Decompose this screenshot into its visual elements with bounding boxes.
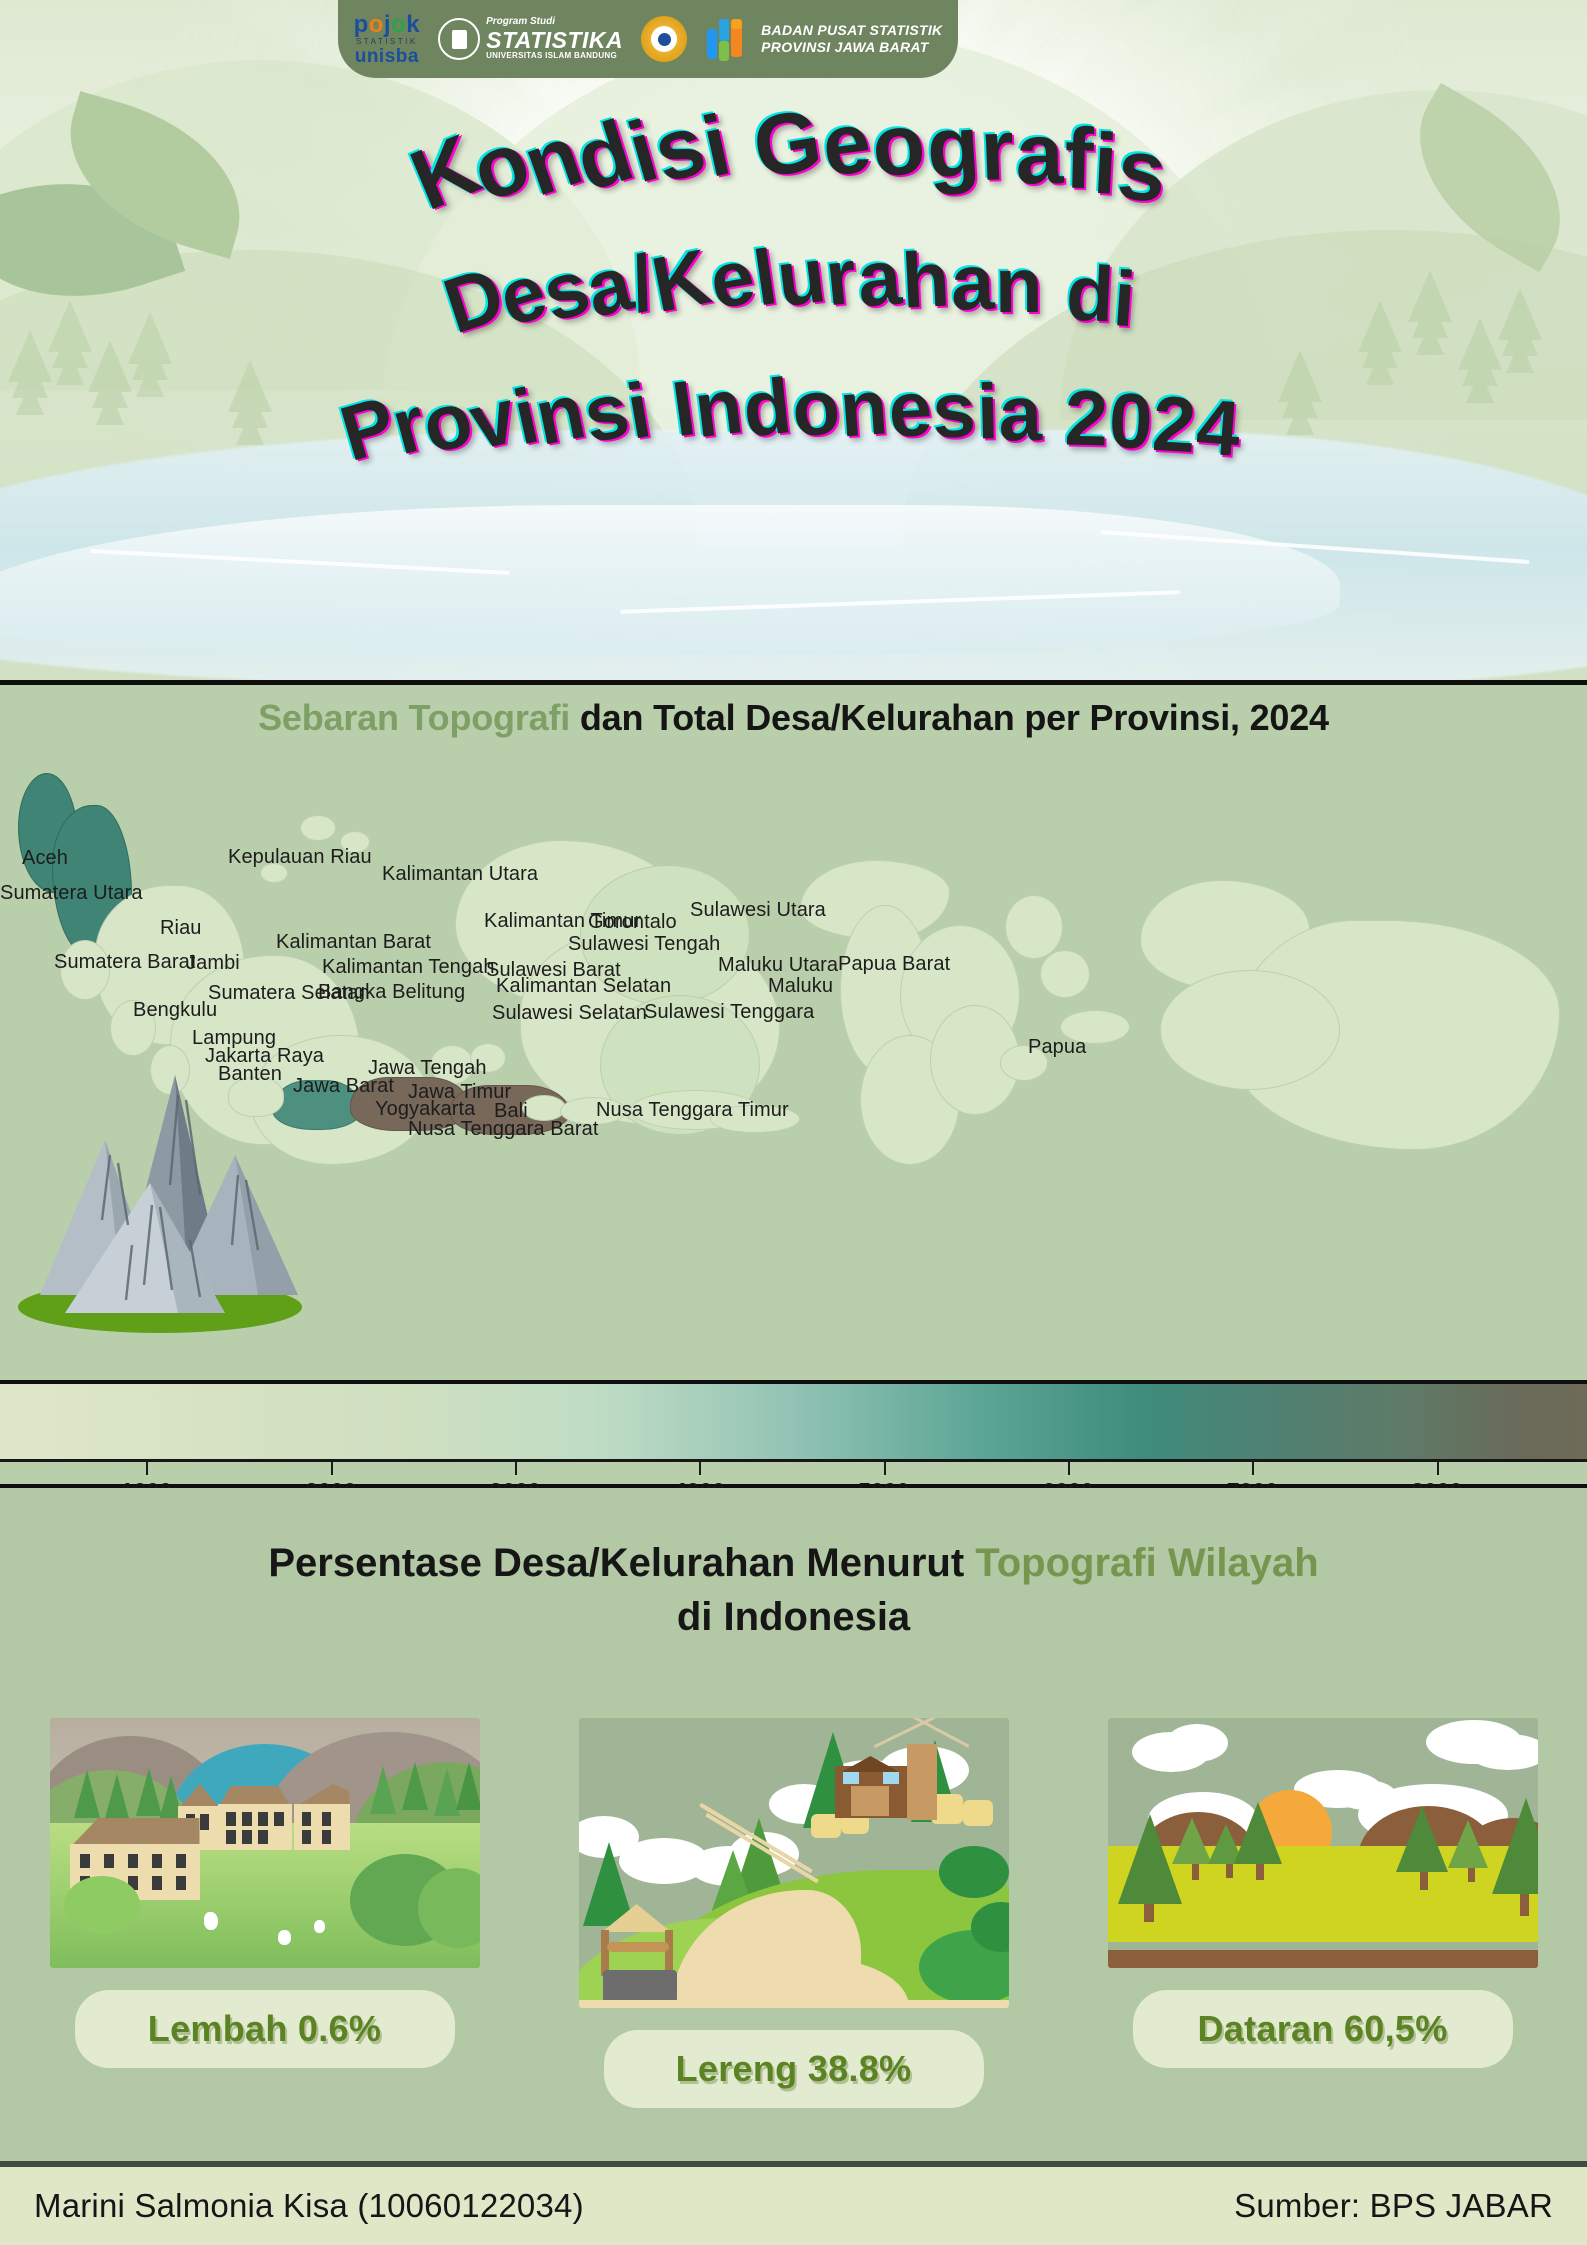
footer: Marini Salmonia Kisa (10060122034) Sumbe… [0, 2161, 1587, 2245]
map-label-bengkulu: Bengkulu [133, 999, 217, 1022]
colorbar-tick [884, 1462, 886, 1475]
map-label-riau: Riau [160, 917, 202, 940]
map-label-papua-barat: Papua Barat [838, 953, 950, 976]
card-lereng: Lereng 38.8% [579, 1718, 1009, 2108]
plain-field-illustration [1108, 1718, 1538, 1968]
map-label-kalimantan-timur: Kalimantan Timur [484, 910, 641, 933]
prodi-line2: STATISTIKA [486, 28, 623, 52]
bottom-title-part1: Persentase Desa/Kelurahan Menurut [268, 1541, 975, 1585]
logo-bps: BADAN PUSAT STATISTIK PROVINSI JAWA BARA… [705, 17, 942, 61]
logo-pojok-statistik-unisba: pojok STATISTIK unisba [354, 13, 421, 66]
colorbar-gradient [0, 1384, 1587, 1462]
colorbar-tick [146, 1462, 148, 1475]
topography-cards: Lembah 0.6% [0, 1718, 1587, 2118]
bps-line1: BADAN PUSAT STATISTIK [761, 22, 942, 40]
pojok-unisba-text: unisba [354, 47, 421, 66]
card-dataran: Dataran 60,5% [1108, 1718, 1538, 2068]
map-label-sumatera-barat: Sumatera Barat [54, 951, 195, 974]
map-label-maluku: Maluku [768, 975, 833, 998]
slope-farm-illustration [579, 1718, 1009, 2008]
map-label-sulawesi-tenggara: Sulawesi Tenggara [644, 1001, 814, 1024]
map-label-sulawesi-utara: Sulawesi Utara [690, 899, 826, 922]
bottom-section-title: Persentase Desa/Kelurahan Menurut Topogr… [0, 1536, 1587, 1644]
badge-lembah: Lembah 0.6% [75, 1990, 455, 2068]
map-title-accent: Sebaran Topografi [258, 697, 570, 738]
map-label-nusa-tenggara-timur: Nusa Tenggara Timur [596, 1099, 789, 1122]
map-label-kalimantan-selatan: Kalimantan Selatan [496, 975, 671, 998]
hero-banner: pojok STATISTIK unisba Program Studi STA… [0, 0, 1587, 680]
logo-program-studi-statistika: Program Studi STATISTIKA UNIVERSITAS ISL… [438, 17, 623, 60]
title-line-3: Provinsi Indonesia 2024 [0, 370, 1587, 461]
bps-line2: PROVINSI JAWA BARAT [761, 39, 942, 57]
map-label-sulawesi-selatan: Sulawesi Selatan [492, 1002, 647, 1025]
colorbar-tick [699, 1462, 701, 1475]
footer-source: Sumber: BPS JABAR [1234, 2187, 1553, 2225]
bottom-title-part2: di Indonesia [677, 1595, 910, 1639]
map-label-nusa-tenggara-barat: Nusa Tenggara Barat [408, 1118, 599, 1141]
map-province-shape [1160, 970, 1340, 1090]
prodi-line3: UNIVERSITAS ISLAM BANDUNG [486, 52, 623, 60]
map-province-shape [300, 815, 336, 841]
map-label-kalimantan-barat: Kalimantan Barat [276, 931, 431, 954]
mountain-illustration [10, 1045, 310, 1335]
map-label-aceh: Aceh [22, 847, 68, 870]
colorbar-tick [1068, 1462, 1070, 1475]
infographic-page: pojok STATISTIK unisba Program Studi STA… [0, 0, 1587, 2245]
map-label-kalimantan-utara: Kalimantan Utara [382, 863, 538, 886]
map-province-shape [1005, 895, 1063, 959]
valley-village-illustration [50, 1718, 480, 1968]
map-label-kalimantan-tengah: Kalimantan Tengah [322, 956, 495, 979]
colorbar-tick [515, 1462, 517, 1475]
bottom-title-accent: Topografi Wilayah [975, 1541, 1318, 1585]
map-label-sumatera-utara: Sumatera Utara [0, 882, 143, 905]
colorbar-tick [1437, 1462, 1439, 1475]
map-label-maluku-utara: Maluku Utara [718, 954, 838, 977]
map-label-jambi: Jambi [186, 952, 240, 975]
map-title-rest: dan Total Desa/Kelurahan per Provinsi, 2… [570, 697, 1329, 738]
colorbar-tick [331, 1462, 333, 1475]
map-colorbar: 10002000300040005000600070008000 [0, 1380, 1587, 1488]
logo-bar: pojok STATISTIK unisba Program Studi STA… [338, 0, 958, 78]
title-line-2: Desa/Kelurahan di [0, 240, 1587, 331]
footer-author: Marini Salmonia Kisa (10060122034) [34, 2187, 584, 2225]
bps-mark-icon [705, 17, 753, 61]
page-title: Kondisi Geografis Desa/Kelurahan di Prov… [0, 95, 1587, 515]
badge-lereng: Lereng 38.8% [604, 2030, 984, 2108]
map-section-title: Sebaran Topografi dan Total Desa/Kelurah… [0, 697, 1587, 739]
river-highlight [0, 505, 1340, 655]
akreditasi-unggul-icon [641, 16, 687, 62]
map-label-papua: Papua [1028, 1036, 1086, 1059]
card-lembah: Lembah 0.6% [50, 1718, 480, 2068]
title-line-1: Kondisi Geografis [0, 105, 1587, 204]
map-province-shape [1040, 950, 1090, 998]
pojok-wordmark: pojok [354, 13, 421, 37]
map-label-kepulauan-riau: Kepulauan Riau [228, 846, 372, 869]
badge-dataran: Dataran 60,5% [1133, 1990, 1513, 2068]
pojok-subtitle: STATISTIK [354, 38, 421, 46]
unisba-seal-icon [438, 18, 480, 60]
topography-percentage-section: Persentase Desa/Kelurahan Menurut Topogr… [0, 1488, 1587, 2161]
map-label-sumatera-selatan: Sumatera Selatan [208, 982, 370, 1005]
map-label-sulawesi-tengah: Sulawesi Tengah [568, 933, 720, 956]
colorbar-tick [1252, 1462, 1254, 1475]
